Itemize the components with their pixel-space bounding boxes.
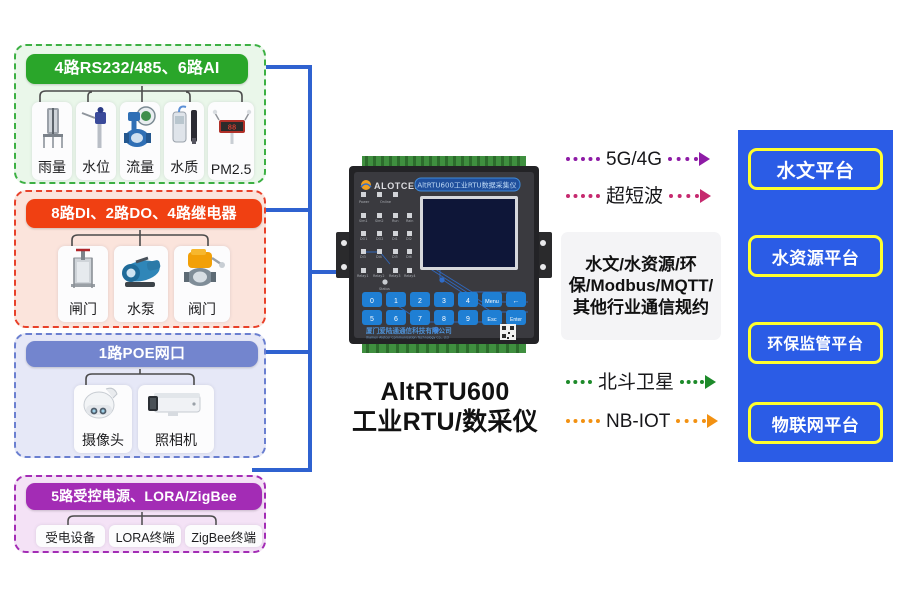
device-card-box-camera[interactable]: 照相机 xyxy=(138,385,214,453)
sensor-card-flow[interactable]: 流量 xyxy=(120,102,160,180)
chip-lora-terminal[interactable]: LORA终端 xyxy=(109,525,182,547)
water-level-sensor-icon xyxy=(76,102,116,157)
platform-environmental[interactable]: 环保监管平台 xyxy=(748,322,883,364)
comm-label-5g4g: 5G/4G xyxy=(600,150,668,169)
group-di-do-relay-cards: 闸门 水泵 xyxy=(58,246,230,322)
device-card-valve[interactable]: 阀门 xyxy=(174,246,230,322)
group-power-lora-zigbee-header[interactable]: 5路受控电源、LORA/ZigBee xyxy=(26,483,262,510)
svg-text:Run: Run xyxy=(392,219,399,223)
svg-text:Rain: Rain xyxy=(406,219,413,223)
device-card-valve-label: 阀门 xyxy=(188,299,216,322)
platform-iot[interactable]: 物联网平台 xyxy=(748,402,883,444)
sensor-card-level[interactable]: 水位 xyxy=(76,102,116,180)
svg-text:厦门爱陆通通信科技有限公司: 厦门爱陆通通信科技有限公司 xyxy=(365,326,452,335)
svg-text:9: 9 xyxy=(466,316,470,323)
comm-dash-right-ultrashortwave xyxy=(669,194,699,198)
device-card-box-camera-label: 照相机 xyxy=(155,430,197,453)
svg-text:←: ← xyxy=(513,298,520,305)
svg-text:DI1: DI1 xyxy=(392,237,398,241)
device-card-dome-camera[interactable]: 摄像头 xyxy=(74,385,132,453)
rain-gauge-icon xyxy=(32,102,72,157)
svg-text:DI6: DI6 xyxy=(406,255,412,259)
comm-arrow-beidou xyxy=(705,375,716,389)
comm-arrow-nbiot xyxy=(707,414,718,428)
comm-arrow-5g4g xyxy=(699,152,710,166)
comm-link-5g4g[interactable]: 5G/4G xyxy=(566,147,710,171)
water-pump-icon xyxy=(114,246,168,299)
comm-arrow-ultrashortwave xyxy=(700,189,711,203)
svg-text:88: 88 xyxy=(228,124,236,132)
svg-text:Relay2: Relay2 xyxy=(373,274,384,278)
platform-water-resources[interactable]: 水资源平台 xyxy=(748,235,883,277)
svg-text:DI3: DI3 xyxy=(360,255,366,259)
svg-text:5: 5 xyxy=(370,316,374,323)
box-camera-icon xyxy=(138,385,214,430)
water-quality-probe-icon xyxy=(164,102,204,157)
group-poe-cards: 摄像头 照相机 xyxy=(74,385,214,453)
svg-text:Relay4: Relay4 xyxy=(404,274,415,278)
device-card-gate-label: 闸门 xyxy=(69,299,97,322)
device-name-line1: AltRTU600 xyxy=(330,378,560,408)
svg-text:8: 8 xyxy=(442,316,446,323)
svg-text:Power: Power xyxy=(359,200,370,204)
protocol-list-box: 水文/水资源/环保/Modbus/MQTT/其他行业通信规约 xyxy=(561,232,721,340)
svg-text:Online: Online xyxy=(380,200,391,204)
group-di-do-relay: 8路DI、2路DO、4路继电器 闸门 xyxy=(14,190,266,328)
comm-dash-right-5g4g xyxy=(668,157,698,161)
group-poe: 1路POE网口 摄像头 xyxy=(14,333,266,458)
device-name-line2: 工业RTU/数采仪 xyxy=(330,408,560,438)
platform-hydrology[interactable]: 水文平台 xyxy=(748,148,883,190)
svg-text:Status: Status xyxy=(379,287,390,291)
group-di-do-relay-header[interactable]: 8路DI、2路DO、4路继电器 xyxy=(26,199,262,228)
comm-link-beidou[interactable]: 北斗卫星 xyxy=(566,370,716,394)
chip-zigbee-terminal[interactable]: ZigBee终端 xyxy=(185,525,262,547)
group-poe-header[interactable]: 1路POE网口 xyxy=(26,341,258,367)
svg-text:Xiamen Alotcer Communication T: Xiamen Alotcer Communication Technology … xyxy=(366,336,449,340)
svg-text:3: 3 xyxy=(442,298,446,305)
comm-dash-right-nbiot xyxy=(676,419,706,423)
device-name-label: AltRTU600 工业RTU/数采仪 xyxy=(330,378,560,437)
sensor-card-pm25-label: PM2.5 xyxy=(211,161,251,180)
svg-text:DI4: DI4 xyxy=(376,255,382,259)
svg-text:AltRTU600工业RTU数据采集仪: AltRTU600工业RTU数据采集仪 xyxy=(417,181,516,190)
pm25-monitor-icon: 88 xyxy=(208,102,254,161)
comm-dash-left-ultrashortwave xyxy=(566,194,600,198)
svg-text:1: 1 xyxy=(394,298,398,305)
svg-text:Menu: Menu xyxy=(485,299,499,305)
group-power-lora-zigbee-chips: 受电设备 LORA终端 ZigBee终端 xyxy=(36,525,262,547)
comm-dash-left-5g4g xyxy=(566,157,600,161)
svg-text:Relay3: Relay3 xyxy=(389,274,400,278)
flow-meter-icon xyxy=(120,102,160,157)
sensor-card-level-label: 水位 xyxy=(82,157,110,180)
comm-dash-left-beidou xyxy=(566,380,592,384)
svg-text:7: 7 xyxy=(418,316,422,323)
group-power-lora-zigbee: 5路受控电源、LORA/ZigBee 受电设备 LORA终端 ZigBee终端 xyxy=(14,475,266,553)
svg-text:Esc: Esc xyxy=(487,317,496,323)
sluice-gate-icon xyxy=(58,246,108,299)
rtu-device-image[interactable]: ALOTCER AltRTU600工业RTU数据采集仪 xyxy=(332,152,556,358)
group-serial-ai-cards: 雨量 水位 xyxy=(32,102,254,180)
svg-text:6: 6 xyxy=(394,316,398,323)
comm-dash-left-nbiot xyxy=(566,419,600,423)
svg-text:DO2: DO2 xyxy=(376,237,383,241)
svg-text:ALOTCER: ALOTCER xyxy=(374,181,422,191)
comm-label-ultrashortwave: 超短波 xyxy=(600,187,669,206)
sensor-card-quality-label: 水质 xyxy=(170,157,198,180)
device-card-pump-label: 水泵 xyxy=(127,299,155,322)
svg-text:2: 2 xyxy=(418,298,422,305)
device-card-gate[interactable]: 闸门 xyxy=(58,246,108,322)
svg-text:DI2: DI2 xyxy=(406,237,412,241)
dome-camera-icon xyxy=(74,385,132,430)
sensor-card-rain[interactable]: 雨量 xyxy=(32,102,72,180)
device-card-dome-camera-label: 摄像头 xyxy=(82,430,124,453)
sensor-card-quality[interactable]: 水质 xyxy=(164,102,204,180)
svg-text:Relay1: Relay1 xyxy=(357,274,368,278)
diagram-canvas: 4路RS232/485、6路AI 雨量 xyxy=(0,0,900,600)
group-power-lora-zigbee-bracket xyxy=(52,512,232,526)
valve-icon xyxy=(174,246,230,299)
comm-label-nbiot: NB-IOT xyxy=(600,412,676,431)
group-serial-ai: 4路RS232/485、6路AI 雨量 xyxy=(14,44,266,184)
protocol-list-text: 水文/水资源/环保/Modbus/MQTT/其他行业通信规约 xyxy=(565,254,717,318)
svg-text:0: 0 xyxy=(370,298,374,305)
svg-text:DO1: DO1 xyxy=(360,237,367,241)
svg-text:4: 4 xyxy=(466,298,470,305)
group-serial-ai-header[interactable]: 4路RS232/485、6路AI xyxy=(26,54,248,84)
comm-link-ultrashortwave[interactable]: 超短波 xyxy=(566,184,711,208)
chip-powered-device[interactable]: 受电设备 xyxy=(36,525,105,547)
svg-text:DI5: DI5 xyxy=(392,255,398,259)
comm-dash-right-beidou xyxy=(680,380,704,384)
sensor-card-flow-label: 流量 xyxy=(126,157,154,180)
svg-text:Sim2: Sim2 xyxy=(375,219,384,223)
sensor-card-rain-label: 雨量 xyxy=(38,157,66,180)
comm-label-beidou: 北斗卫星 xyxy=(592,373,680,392)
comm-link-nbiot[interactable]: NB-IOT xyxy=(566,409,718,433)
platform-panel: 水文平台 水资源平台 环保监管平台 物联网平台 xyxy=(738,130,893,462)
svg-text:Enter: Enter xyxy=(510,317,522,323)
svg-text:Sim1: Sim1 xyxy=(359,219,368,223)
sensor-card-pm25[interactable]: 88 PM2.5 xyxy=(208,102,254,180)
device-card-pump[interactable]: 水泵 xyxy=(114,246,168,322)
